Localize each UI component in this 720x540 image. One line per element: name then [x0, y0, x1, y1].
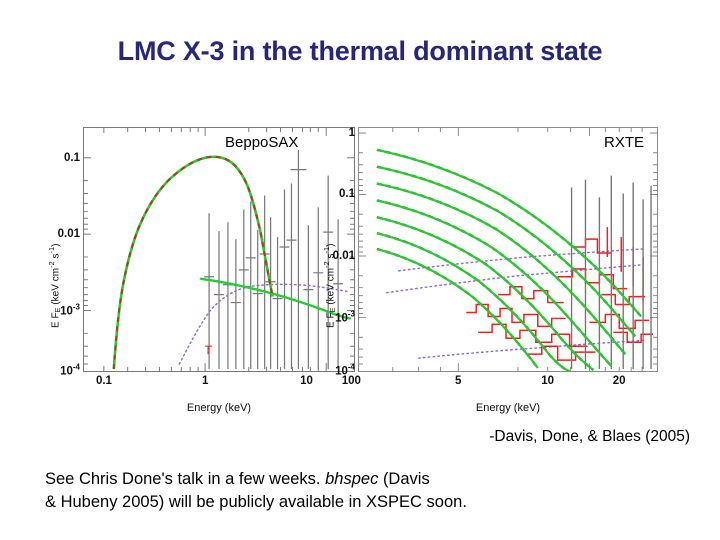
caption-bhspec-emphasis: bhspec: [325, 470, 378, 488]
chart-panel-rxte: 1 0.1 0.01 10-3 10-4 5 10 20 RXTE E FE (…: [358, 118, 658, 418]
y-axis-label-rxte: E FE (keV cm-2 s-1): [322, 244, 337, 329]
ytick-label: 10-4: [60, 362, 80, 377]
slide-caption: See Chris Done's talk in a few weeks. bh…: [45, 468, 685, 515]
plot-svg-bepposax: [84, 128, 354, 371]
ytick-label: 0.1: [64, 152, 80, 164]
marker-red-low: [205, 346, 212, 354]
xtick-label: 0.1: [96, 375, 112, 387]
ytick-exponent: -3: [348, 310, 355, 319]
xtick-label: 1: [202, 375, 208, 387]
plot-area-rxte: [359, 128, 657, 371]
y-axis-label-bepposax: E FE (keV cm-2 s-1): [47, 244, 62, 329]
ytick-label: 0.01: [58, 228, 80, 240]
xtick-label: 10: [300, 375, 313, 387]
ytick-exponent: -4: [348, 362, 355, 371]
xtick-label: 5: [455, 375, 461, 387]
plot-svg-rxte: [359, 128, 657, 371]
panel-label-bepposax: BeppoSAX: [225, 134, 298, 151]
ytick-label: 1: [349, 127, 355, 139]
slide-canvas: LMC X-3 in the thermal dominant state: [0, 0, 720, 540]
xtick-label: 20: [613, 375, 626, 387]
caption-line1-part1: See Chris Done's talk in a few weeks.: [45, 470, 321, 488]
ytick-label: 10-4: [335, 362, 355, 377]
x-axis-label-rxte: Energy (keV): [358, 402, 658, 414]
xtick-label: 10: [541, 375, 554, 387]
plot-frame-rxte: 1 0.1 0.01 10-3 10-4 5 10 20: [358, 127, 658, 372]
page-title: LMC X-3 in the thermal dominant state: [0, 36, 720, 67]
chart-panel-bepposax: 0.1 0.01 10-3 10-4 0.1 1 10 100 BeppoSAX…: [83, 118, 355, 418]
caption-line1-part2: (Davis: [383, 470, 430, 488]
ytick-exponent: -4: [73, 362, 80, 371]
ytick-label: 0.1: [339, 188, 355, 200]
ytick-exponent: -3: [73, 303, 80, 312]
x-axis-label-bepposax: Energy (keV): [83, 402, 355, 414]
plot-frame-bepposax: 0.1 0.01 10-3 10-4 0.1 1 10 100: [83, 127, 355, 372]
caption-line2: & Hubeny 2005) will be publicly availabl…: [45, 493, 467, 511]
errorbar-group-rxte: [572, 176, 651, 369]
figure-citation: -Davis, Done, & Blaes (2005): [0, 428, 690, 446]
figure-container: 0.1 0.01 10-3 10-4 0.1 1 10 100 BeppoSAX…: [28, 118, 692, 418]
panel-label-rxte: RXTE: [604, 134, 644, 151]
ytick-label: 10-3: [335, 310, 355, 325]
plot-area-bepposax: [84, 128, 354, 371]
ytick-label: 10-3: [60, 303, 80, 318]
